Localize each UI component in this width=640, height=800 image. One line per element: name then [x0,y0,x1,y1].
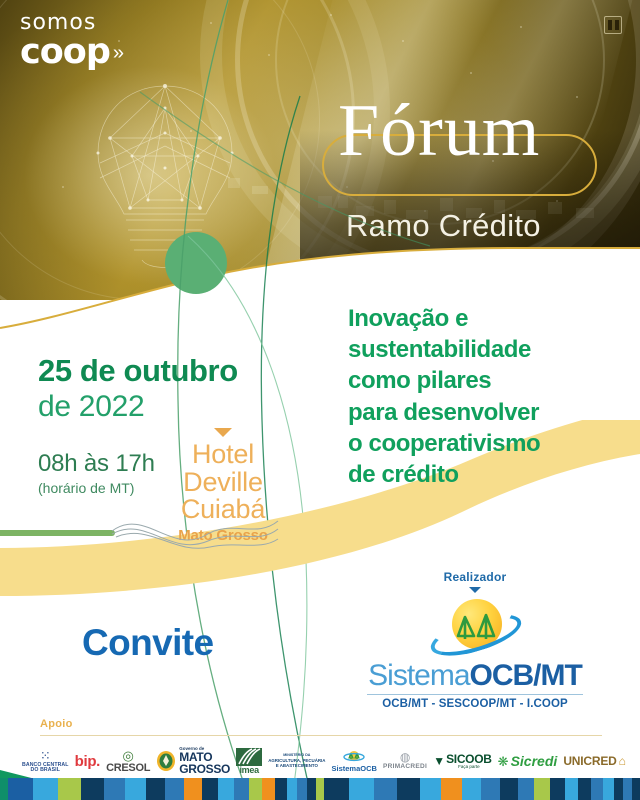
divider [367,694,583,695]
triangle-marker-icon [469,587,481,593]
support-logo-label: PRIMACREDI [383,764,427,771]
support-logo-label: Sicredi [511,754,558,768]
somos-coop-logo: somos coop » [20,12,150,69]
wave-lines-decoration [110,505,280,560]
support-logo-sistema-ocb: SistemaOCB [331,750,376,773]
primacredi-icon: ◍ [400,751,410,763]
title-pill-outline: Fórum [322,134,597,196]
headline-line-5: o cooperativismo [348,428,608,459]
footer-stripe [58,778,81,800]
support-logo-ministerio-agricultura: MINISTÉRIO DA AGRICULTURA, PECUÁRIA E AB… [268,753,325,768]
organizer-label: Realizador [340,570,610,584]
green-circle-accent [165,232,227,294]
page-title: Fórum [338,94,540,168]
footer-stripe [481,778,500,800]
footer-stripe [8,778,33,800]
support-logo-unicred: UNICRED ⌂ [563,755,626,767]
support-logo-primacredi: ◍ PRIMACREDI [383,751,427,771]
venue-line-2: Deville [163,469,283,497]
green-bar-accent [0,530,115,536]
footer-stripe [0,778,8,800]
headline-line-2: sustentabilidade [348,334,608,365]
footer-stripe [614,778,624,800]
footer-stripe [374,778,397,800]
footer-stripe [397,778,420,800]
footer-stripe [307,778,316,800]
support-logo-imea: imea [236,748,262,775]
footer-stripe [349,778,373,800]
venue-line-1: Hotel [163,441,283,469]
footer-stripe [603,778,614,800]
footer-stripe [218,778,234,800]
footer-stripe [184,778,202,800]
footer-stripe [632,778,640,800]
footer-stripe [202,778,219,800]
footer-stripe [324,778,349,800]
footer-stripe [316,778,324,800]
footer-stripe [297,778,307,800]
event-poster: somos coop » Fórum Ramo Crédito [0,0,640,800]
footer-stripe [534,778,550,800]
invite-label: Convite [82,622,213,664]
ocb-logo-mark [425,597,525,659]
support-logo-mato-grosso: Governo de MATO GROSSO [156,747,230,776]
footer-stripe [146,778,166,800]
footer-stripe [550,778,565,800]
footer-stripe [591,778,603,800]
footer-stripe [500,778,518,800]
footer-stripe [234,778,249,800]
footer-stripe [275,778,287,800]
organizer-block: Realizador SistemaOCB/MT OCB/MT - SESCOO… [340,570,610,710]
imea-mark-icon [236,748,262,766]
pause-icon[interactable] [604,16,622,34]
event-date: 25 de outubro de 2022 [38,355,308,423]
sicredi-mark-icon: ❋ [498,755,509,768]
divider [40,735,602,736]
chevron-icon: » [113,43,124,63]
footer-stripes [0,778,640,800]
sicoob-mark-icon: ▼ [433,755,445,767]
footer-stripe [262,778,275,800]
footer-stripe [420,778,442,800]
support-logo-label: SistemaOCB [331,765,376,773]
headline-line-3: como pilares [348,365,608,396]
organizer-logo-word1: Sistema [368,659,469,692]
footer-stripe [565,778,579,800]
event-headline: Inovação e sustentabilidade como pilares… [348,303,608,490]
support-logo-sicredi: ❋ Sicredi [498,754,558,768]
cresol-icon: ◎ [122,749,133,762]
somos-coop-word-coop: coop [20,36,110,69]
somos-coop-word-somos: somos [20,12,150,34]
organizer-logo-text: SistemaOCB/MT [340,661,610,691]
organizer-logo-word2: OCB/MT [470,659,582,692]
sistema-ocb-mark-icon [343,750,365,765]
footer-stripe [125,778,146,800]
footer-stripe [165,778,184,800]
unicred-mark-icon: ⌂ [619,755,626,767]
footer-stripe [441,778,462,800]
support-logo-sicoob: ▼ SICOOB Faça parte [433,753,491,770]
footer-stripe [33,778,57,800]
headline-line-6: de crédito [348,459,608,490]
footer-stripe [578,778,591,800]
footer-stripe [462,778,482,800]
support-logo-label2: Faça parte [458,765,480,770]
support-logo-label2: AGRICULTURA, PECUÁRIA E ABASTECIMENTO [268,758,325,769]
event-date-line1: 25 de outubro [38,355,308,388]
headline-line-4: para desenvolver [348,397,608,428]
footer-stripe [249,778,263,800]
footer-stripe [104,778,126,800]
event-date-line2: de 2022 [38,390,308,423]
support-label: Apoio [40,718,73,730]
footer-stripe [518,778,535,800]
organizer-logo-subtitle: OCB/MT - SESCOOP/MT - I.COOP [340,698,610,710]
footer-stripe [81,778,104,800]
mato-grosso-coat-of-arms-icon [156,750,176,772]
footer-stripe [623,778,632,800]
support-logo-label: imea [239,766,258,775]
headline-line-1: Inovação e [348,303,608,334]
footer-stripe [287,778,298,800]
triangle-marker-icon [214,428,232,437]
support-logo-label2: GROSSO [179,763,230,775]
support-logo-label: UNICRED [563,755,616,767]
support-logo-label: SICOOB [446,753,492,765]
